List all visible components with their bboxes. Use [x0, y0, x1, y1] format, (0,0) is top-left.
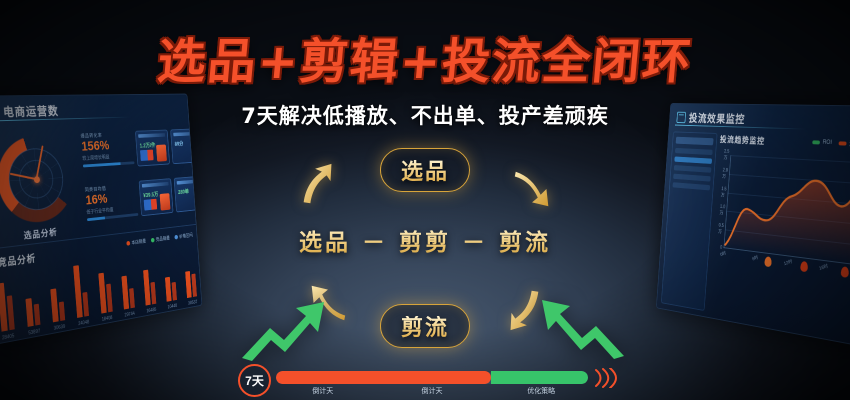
y-tick: 2.0万 [722, 168, 728, 180]
bar-group [185, 270, 197, 298]
progress-fill-red [276, 371, 491, 384]
product-thumb [160, 193, 171, 210]
legend-item-roi: ROI [812, 137, 832, 146]
bar-group [98, 272, 112, 313]
growth-arrow-right-icon [540, 290, 626, 360]
nav-item-0[interactable] [675, 148, 713, 155]
right-dashboard-screen: 投流效果监控 投流趋势监控 ROI 消耗金额 [657, 104, 850, 346]
bar-x-label: 16485 [146, 307, 156, 314]
bar-x-label: 30639 [54, 324, 66, 332]
kpi-card-0: 爆品转化率 156% 较上周增长明显 [80, 131, 134, 168]
legend-item-0: 本店销量 [126, 238, 146, 247]
competitor-legend: 本店销量 竞品销量 价格区间 [126, 232, 193, 247]
nav-item-2[interactable] [674, 165, 712, 173]
left-dashboard-screen: 电商运营数 选品分析 爆品转化率 156% 较上周增长明显 同类目均值 16% … [0, 94, 202, 343]
card-header-bar [142, 182, 169, 188]
spend-area-series [724, 155, 850, 266]
competitor-section: 竞品分析 本店销量 竞品销量 价格区间 28405538973063924048… [0, 224, 202, 343]
bar-x-label: 10448 [168, 303, 178, 310]
legend-item-spend: 消耗金额 [838, 138, 850, 148]
workflow-cycle: 选品 剪流 选品 － 剪剪 － 剪流 [300, 148, 550, 348]
y-tick: 0.5万 [718, 223, 724, 235]
left-dashboard-monitor: 电商运营数 选品分析 爆品转化率 156% 较上周增长明显 同类目均值 16% … [0, 94, 202, 345]
signal-waves-icon [592, 368, 618, 388]
product-thumb [193, 190, 202, 207]
bar-group [73, 264, 89, 318]
progress-fill-green [491, 371, 588, 384]
bar-group [121, 275, 134, 310]
axis-marker-0 [764, 256, 772, 267]
y-tick: 1.0万 [719, 205, 725, 217]
product-thumb [156, 144, 167, 161]
card-minibar [144, 199, 158, 211]
legend-item-1: 竞品销量 [151, 235, 170, 244]
gauge-hub [33, 176, 39, 183]
bar-group [143, 269, 156, 306]
nav-item-4[interactable] [673, 182, 711, 190]
cycle-center-text: 选品 － 剪剪 － 剪流 [299, 223, 551, 257]
card-minibar [140, 150, 154, 161]
progress-track[interactable] [276, 371, 588, 384]
poster-stage: 电商运营数 选品分析 爆品转化率 156% 较上周增长明显 同类目均值 16% … [0, 0, 850, 400]
growth-arrow-left-icon [240, 292, 326, 362]
axis-marker-1 [800, 261, 808, 272]
nav-header [676, 137, 714, 146]
bar-group [0, 281, 15, 331]
cycle-node-top[interactable]: 选品 [380, 148, 470, 192]
cycle-arrow-top-left-icon [296, 162, 342, 208]
progress-label-0: 倒计天 [312, 386, 333, 396]
x-tick: 12时 [783, 258, 793, 267]
card-value: 1.2万/件 [139, 141, 155, 150]
card-value: 89分 [174, 139, 183, 147]
selection-gauge [0, 131, 79, 229]
bar-x-label: 24048 [78, 320, 89, 328]
card-header-bar [177, 179, 202, 185]
cycle-node-bottom[interactable]: 剪流 [380, 304, 470, 348]
page-subtitle: 7天解决低播放、不出单、投产差顽疾 [0, 100, 850, 130]
roi-chart-area: 投流趋势监控 ROI 消耗金额 00.5万1.0万1.5万2.0万2.5万 0时… [707, 133, 850, 338]
kpi-sub: 较上周增长明显 [82, 153, 134, 162]
right-dashboard-monitor: 投流效果监控 投流趋势监控 ROI 消耗金额 [656, 103, 850, 347]
roi-area-chart: 00.5万1.0万1.5万2.0万2.5万 0时6时12时18时24时 [724, 155, 850, 266]
x-tick: 0时 [720, 250, 727, 258]
product-card-2[interactable]: ¥39.5万 [139, 178, 174, 216]
product-thumb [190, 143, 200, 160]
x-tick: 6时 [751, 254, 758, 262]
product-card-3[interactable]: 280单 [174, 176, 203, 213]
bar-x-label: 18408 [102, 315, 113, 322]
nav-item-3[interactable] [673, 174, 711, 182]
bar-x-label: 53897 [28, 329, 40, 337]
card-header-bar [173, 132, 199, 137]
y-tick: 2.5万 [723, 149, 729, 161]
timeline-progress: 7天 倒计天 倒计天 优化策略 [238, 362, 618, 396]
card-value: ¥39.5万 [143, 190, 158, 199]
progress-label-1: 倒计天 [422, 386, 443, 396]
bar-group [51, 288, 66, 323]
bar-x-label: 30537 [188, 300, 198, 307]
bar-group [165, 276, 177, 302]
kpi-value: 156% [81, 137, 134, 154]
cycle-arrow-top-right-icon [510, 166, 556, 212]
progress-label-2: 优化策略 [527, 386, 555, 396]
kpi-card-1: 同类目均值 16% 低于行业平均值 [85, 183, 139, 222]
bar-x-label: 29744 [124, 311, 135, 318]
y-tick: 1.5万 [721, 186, 727, 198]
card-header-bar [138, 133, 165, 138]
bar-x-label: 28405 [2, 333, 15, 341]
x-tick: 18时 [818, 263, 828, 272]
axis-marker-2 [841, 266, 850, 278]
bar-group [26, 297, 41, 327]
legend-item-2: 价格区间 [174, 232, 193, 240]
page-title: 选品+剪辑+投流全闭环 [0, 38, 850, 86]
days-badge: 7天 [238, 364, 271, 397]
competitor-title: 竞品分析 [0, 250, 36, 270]
kpi-progress [83, 162, 135, 168]
product-card-0[interactable]: 1.2万/件 [135, 130, 170, 167]
card-value: 280单 [178, 187, 189, 196]
nav-item-1[interactable] [674, 156, 712, 163]
product-card-1[interactable]: 89分 [170, 128, 202, 164]
